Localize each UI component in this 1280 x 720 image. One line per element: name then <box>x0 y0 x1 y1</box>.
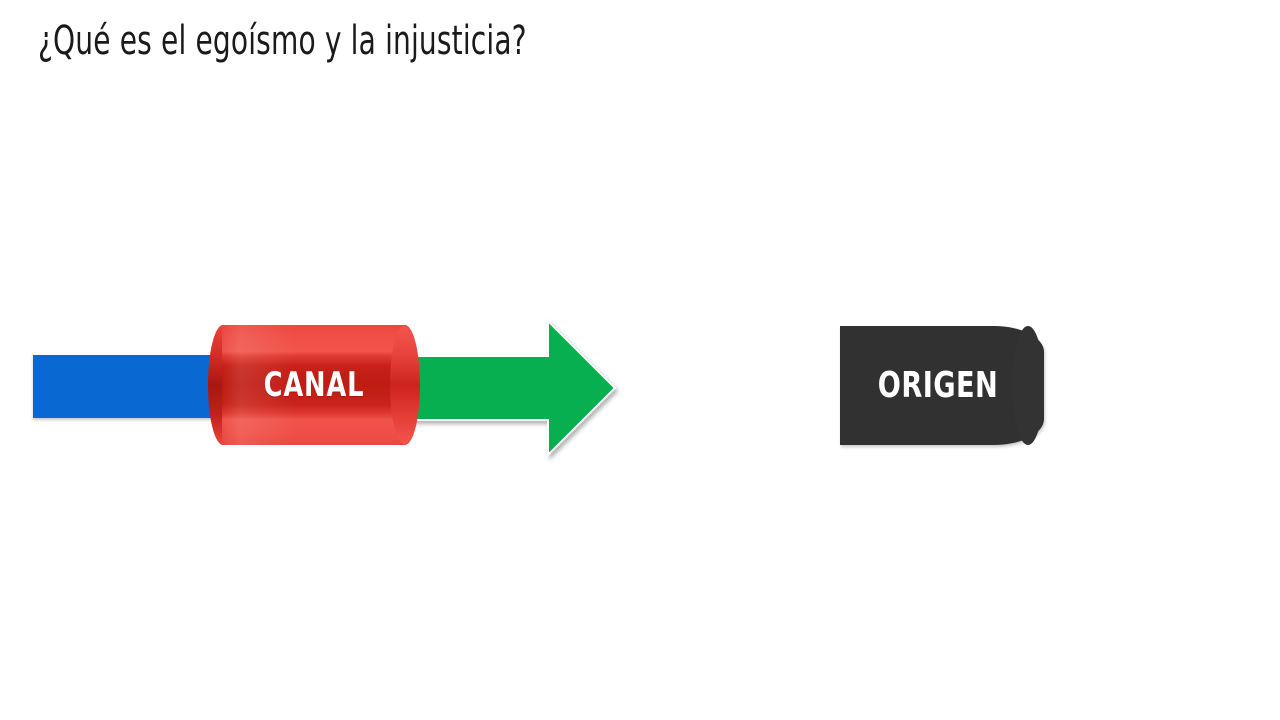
origen-label: ORIGEN <box>856 326 1021 445</box>
canal-label: CANAL <box>225 325 403 445</box>
process-diagram: CANAL ORIGEN <box>0 0 1280 720</box>
origen-tab-shape[interactable]: ORIGEN <box>840 326 1044 445</box>
right-arrow-icon <box>410 314 625 462</box>
canal-cylinder-shape[interactable]: CANAL <box>208 325 420 445</box>
green-right-arrow-shape[interactable] <box>410 314 625 462</box>
presentation-slide: ¿Qué es el egoísmo y la injusticia? CANA… <box>0 0 1280 720</box>
